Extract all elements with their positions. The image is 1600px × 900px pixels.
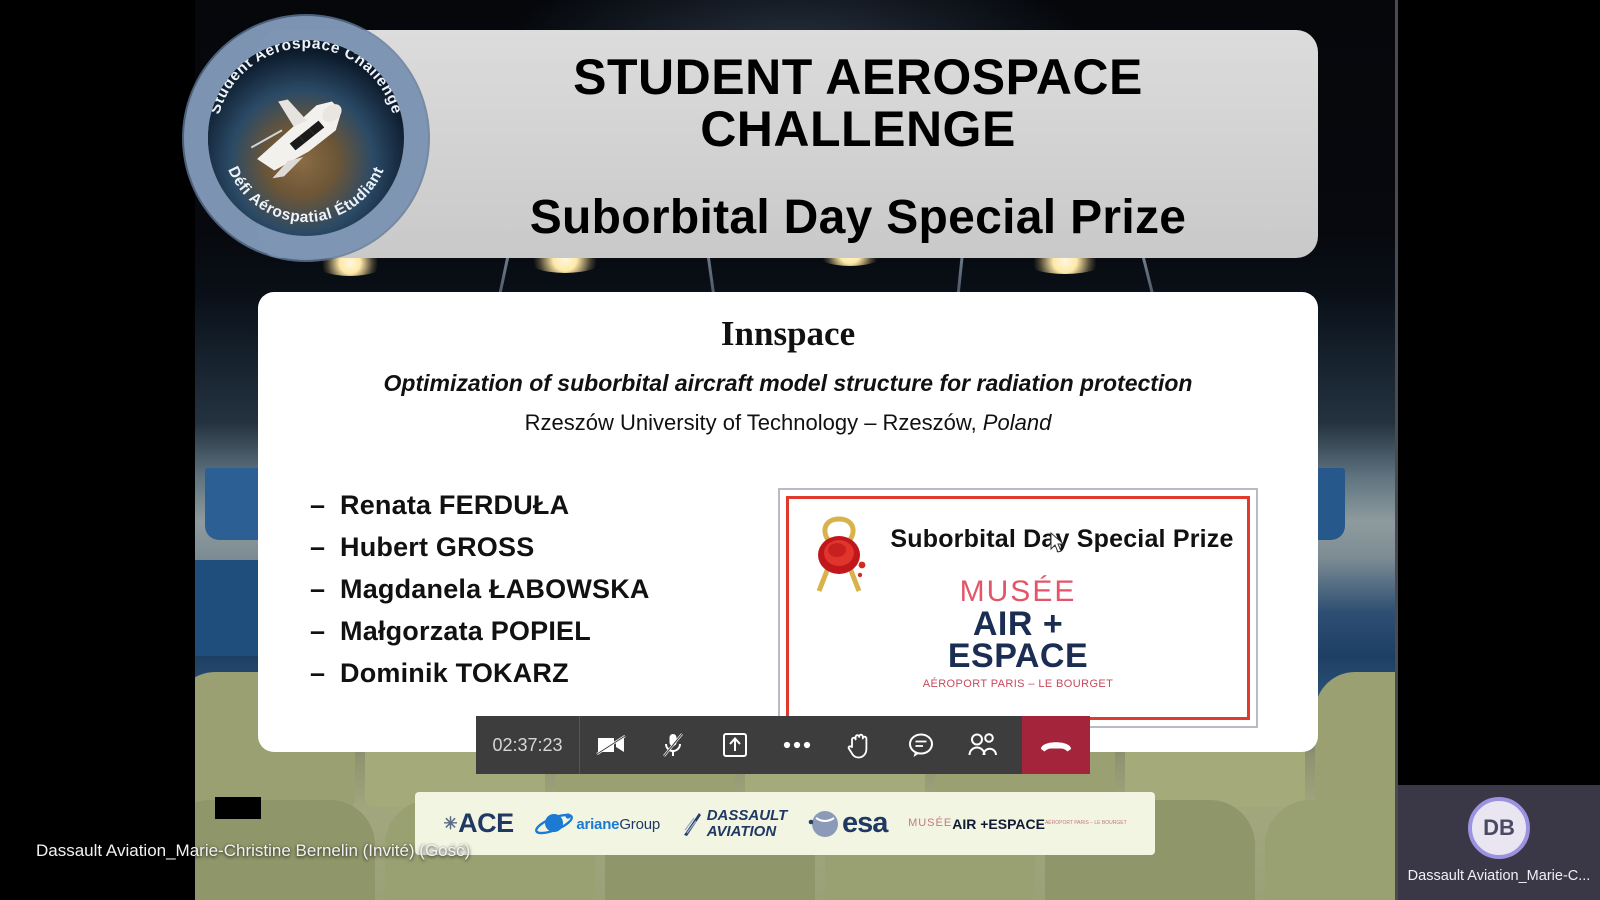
ariane-planet-icon [534, 812, 576, 836]
camera-off-icon [596, 734, 626, 756]
presentation-slide: Innspace Optimization of suborbital airc… [258, 292, 1318, 752]
logo-ring-text: Student Aerospace Challenge Défi Aérospa… [208, 40, 404, 236]
list-item: – Magdanela ŁABOWSKA [310, 574, 770, 605]
dassault-line-1: DASSAULT [707, 808, 788, 824]
esa-logo-icon: esa [808, 807, 887, 840]
sponsor-musee-line-1: MUSÉE [908, 818, 952, 829]
participant-tile[interactable]: DB Dassault Aviation_Marie-C... [1398, 785, 1600, 900]
participants-button[interactable] [952, 716, 1014, 774]
slide-organization: Rzeszów University of Technology – Rzesz… [258, 410, 1318, 436]
organization-country: Poland [983, 410, 1052, 435]
svg-text:Student Aerospace Challenge: Student Aerospace Challenge [208, 40, 404, 116]
ace-label: ACE [458, 808, 514, 839]
mouse-cursor-icon [1050, 532, 1066, 554]
microphone-off-icon [661, 732, 685, 758]
list-item: – Renata FERDUŁA [310, 490, 770, 521]
list-item: – Hubert GROSS [310, 532, 770, 563]
hangup-icon [1039, 736, 1073, 754]
chat-icon [908, 732, 934, 758]
sponsor-bar: ✳ACE arianeGroup DASSAULT AVIATIO [415, 792, 1155, 855]
team-member-name: Małgorzata POPIEL [340, 616, 591, 647]
ace-logo-icon: ✳ACE [443, 808, 513, 839]
esa-globe-icon [808, 809, 842, 839]
logo-bottom-text: Défi Aérospatial Étudiant [224, 164, 387, 226]
team-member-name: Dominik TOKARZ [340, 658, 569, 689]
logo-line-airport: AÉROPORT PARIS – LE BOURGET [789, 678, 1247, 690]
meeting-timer: 02:37:23 [476, 716, 580, 774]
chat-button[interactable] [890, 716, 952, 774]
sponsor-musee-line-2: AIR + [952, 817, 988, 831]
shared-content-stage: Student Aerospace Challenge Défi Aérospa… [0, 0, 1395, 900]
team-member-name: Hubert GROSS [340, 532, 534, 563]
more-options-icon [783, 741, 811, 749]
arianegroup-logo-icon: arianeGroup [534, 812, 660, 836]
sponsor-musee-line-4: AÉROPORT PARIS – LE BOURGET [1045, 821, 1127, 826]
banner-line-3: Suborbital Day Special Prize [418, 193, 1298, 242]
panel-filler [1398, 760, 1600, 785]
meeting-control-bar: 02:37:23 [476, 716, 1090, 774]
organization-name: Rzeszów University of Technology – Rzesz… [525, 410, 983, 435]
team-member-list: – Renata FERDUŁA – Hubert GROSS – Magdan… [310, 490, 770, 700]
banner-line-1: STUDENT AEROSPACE [418, 52, 1298, 104]
list-bullet: – [310, 616, 340, 647]
participant-name: Dassault Aviation_Marie-C... [1408, 868, 1591, 884]
esa-label: esa [842, 807, 887, 840]
svg-text:Défi Aérospatial Étudiant: Défi Aérospatial Étudiant [224, 164, 387, 226]
musee-air-espace-logo-icon: MUSÉE AIR + ESPACE AÉROPORT PARIS – LE B… [789, 575, 1247, 690]
list-bullet: – [310, 490, 340, 521]
participant-panel: DB Dassault Aviation_Marie-C... [1398, 0, 1600, 900]
ariane-label-bold: ariane [576, 816, 619, 833]
share-screen-button[interactable] [704, 716, 766, 774]
video-artifact [215, 797, 261, 819]
team-member-name: Magdanela ŁABOWSKA [340, 574, 650, 605]
meeting-screen: Student Aerospace Challenge Défi Aérospa… [0, 0, 1600, 900]
dassault-mark-icon [681, 810, 703, 838]
ariane-label-light: Group [619, 816, 660, 833]
student-aerospace-challenge-logo-icon: Student Aerospace Challenge Défi Aérospa… [208, 40, 404, 236]
list-bullet: – [310, 574, 340, 605]
more-options-button[interactable] [766, 716, 828, 774]
dassault-aviation-logo-icon: DASSAULT AVIATION [681, 808, 788, 840]
camera-toggle-button[interactable] [580, 716, 642, 774]
prize-box-inner-border: Suborbital Day Special Prize MUSÉE AIR +… [786, 496, 1250, 720]
special-prize-box: Suborbital Day Special Prize MUSÉE AIR +… [778, 488, 1258, 728]
logo-line-musee: MUSÉE [789, 575, 1247, 609]
list-bullet: – [310, 658, 340, 689]
letterbox-left [0, 0, 195, 900]
sponsor-musee-line-3: ESPACE [988, 817, 1045, 831]
microphone-toggle-button[interactable] [642, 716, 704, 774]
logo-top-text: Student Aerospace Challenge [208, 40, 404, 116]
list-bullet: – [310, 532, 340, 563]
list-item: – Dominik TOKARZ [310, 658, 770, 689]
team-member-name: Renata FERDUŁA [340, 490, 569, 521]
ace-star-icon: ✳ [443, 814, 457, 834]
logo-line-espace: ESPACE [789, 637, 1247, 676]
presenter-name-label: Dassault Aviation_Marie-Christine Bernel… [36, 841, 470, 861]
participants-icon [968, 733, 998, 757]
banner-line-2: CHALLENGE [418, 104, 1298, 156]
raise-hand-button[interactable] [828, 716, 890, 774]
hangup-button[interactable] [1022, 716, 1090, 774]
slide-subtitle: Optimization of suborbital aircraft mode… [258, 370, 1318, 397]
event-banner: Student Aerospace Challenge Défi Aérospa… [258, 30, 1318, 258]
list-item: – Małgorzata POPIEL [310, 616, 770, 647]
slide-title: Innspace [258, 314, 1318, 354]
dassault-line-2: AVIATION [707, 824, 788, 840]
musee-air-espace-sponsor-logo-icon: MUSÉE AIR + ESPACE AÉROPORT PARIS – LE B… [908, 817, 1127, 831]
raise-hand-icon [847, 731, 871, 759]
avatar: DB [1468, 797, 1530, 859]
share-screen-icon [722, 732, 748, 758]
banner-title: STUDENT AEROSPACE CHALLENGE Suborbital D… [418, 52, 1298, 242]
